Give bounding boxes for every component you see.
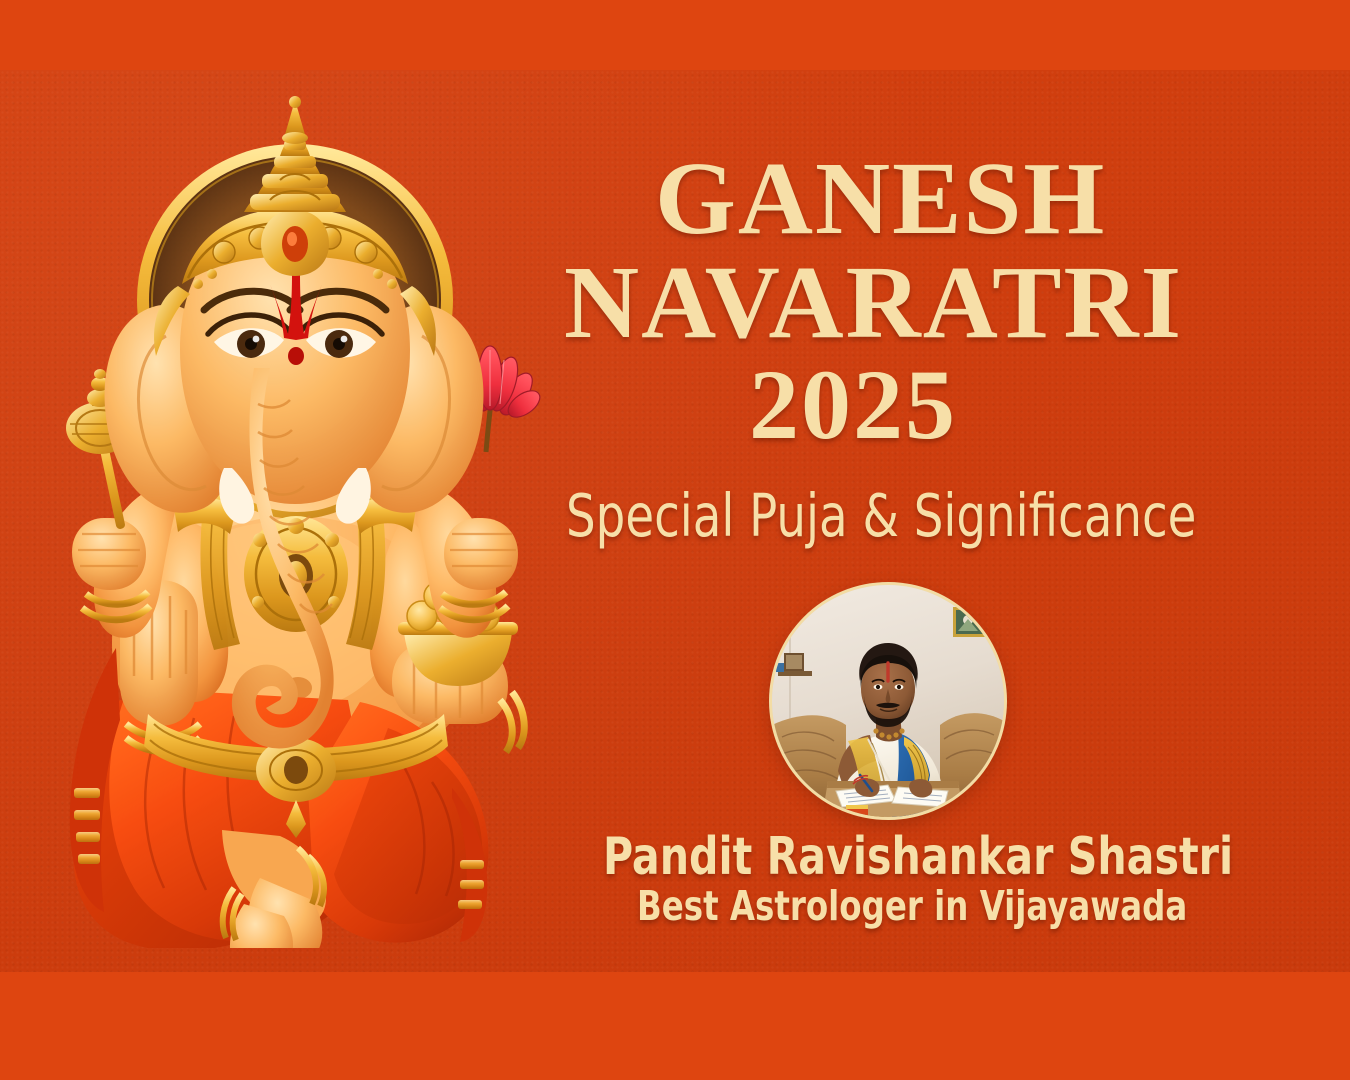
subtitle: Special Puja & Significance bbox=[566, 486, 1196, 545]
poster-canvas: GANESH NAVARATRI 2025 Special Puja & Sig… bbox=[0, 0, 1350, 1080]
title-line-2: NAVARATRI bbox=[564, 251, 1183, 355]
ganesha-illustration bbox=[8, 88, 568, 948]
title-line-3-year: 2025 bbox=[749, 355, 957, 455]
astrologer-portrait bbox=[772, 585, 1004, 817]
top-border-band bbox=[0, 0, 1350, 70]
presenter-role: Best Astrologer in Vijayawada bbox=[637, 886, 1187, 927]
presenter-name: Pandit Ravishankar Shastri bbox=[603, 831, 1233, 883]
bottom-border-band bbox=[0, 972, 1350, 1080]
title-line-1: GANESH bbox=[655, 147, 1106, 251]
